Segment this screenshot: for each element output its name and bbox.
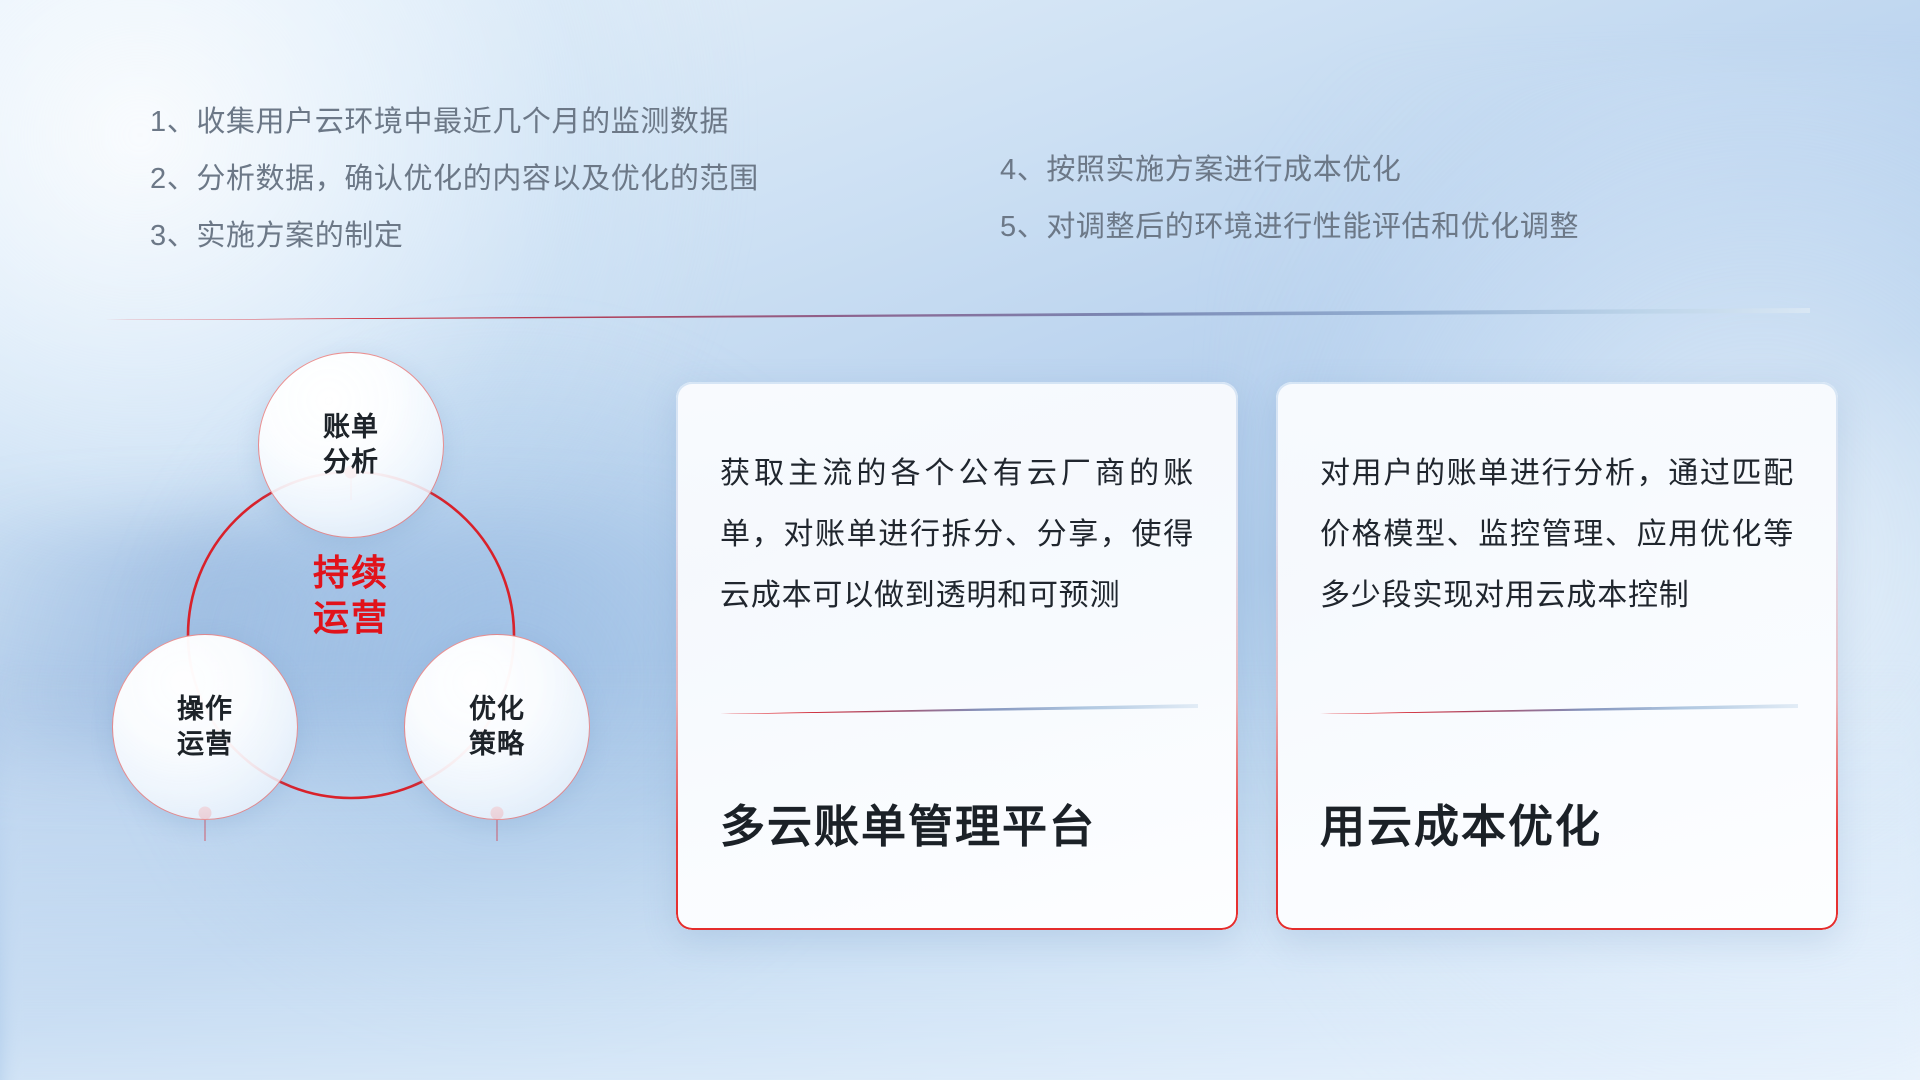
process-step-1: 1、收集用户云环境中最近几个月的监测数据	[150, 108, 759, 137]
venn-bubble-operations[interactable]: 操作 运营	[112, 634, 298, 820]
feature-card-multicloud-billing[interactable]: 获取主流的各个公有云厂商的账单，对账单进行拆分、分享，使得云成本可以做到透明和可…	[676, 382, 1238, 930]
continuous-operations-diagram: 持续 运营 账单 分析 操作 运营 优化 策略	[96, 352, 656, 952]
venn-center-label: 持续 运营	[246, 550, 456, 641]
process-step-3: 3、实施方案的制定	[150, 222, 759, 251]
venn-bubble-bill-analysis[interactable]: 账单 分析	[258, 352, 444, 538]
venn-bubble-top-line1: 账单	[323, 410, 379, 445]
process-steps-left-column: 1、收集用户云环境中最近几个月的监测数据 2、分析数据，确认优化的内容以及优化的…	[150, 108, 759, 279]
process-step-5: 5、对调整后的环境进行性能评估和优化调整	[1000, 213, 1579, 242]
process-step-4: 4、按照实施方案进行成本优化	[1000, 156, 1579, 185]
venn-center-label-line1: 持续	[246, 550, 456, 595]
venn-bubble-optimization-strategy[interactable]: 优化 策略	[404, 634, 590, 820]
venn-bubble-right-line2: 策略	[469, 727, 525, 762]
feature-card-accent-rule	[1320, 704, 1798, 714]
feature-card-title: 多云账单管理平台	[720, 800, 1198, 854]
section-divider	[104, 308, 1810, 320]
feature-card-description: 对用户的账单进行分析，通过匹配价格模型、监控管理、应用优化等多少段实现对用云成本…	[1320, 444, 1794, 627]
feature-card-title: 用云成本优化	[1320, 800, 1798, 854]
feature-card-accent-rule	[720, 704, 1198, 714]
process-steps-right-column: 4、按照实施方案进行成本优化 5、对调整后的环境进行性能评估和优化调整	[1000, 156, 1579, 270]
venn-bubble-top-line2: 分析	[323, 445, 379, 480]
venn-bubble-right-line1: 优化	[469, 692, 525, 727]
venn-center-label-line2: 运营	[246, 595, 456, 640]
feature-card-cloud-cost-optimization[interactable]: 对用户的账单进行分析，通过匹配价格模型、监控管理、应用优化等多少段实现对用云成本…	[1276, 382, 1838, 930]
process-step-2: 2、分析数据，确认优化的内容以及优化的范围	[150, 165, 759, 194]
venn-bubble-left-line2: 运营	[177, 727, 233, 762]
venn-bubble-left-line1: 操作	[177, 692, 233, 727]
feature-card-description: 获取主流的各个公有云厂商的账单，对账单进行拆分、分享，使得云成本可以做到透明和可…	[720, 444, 1194, 627]
